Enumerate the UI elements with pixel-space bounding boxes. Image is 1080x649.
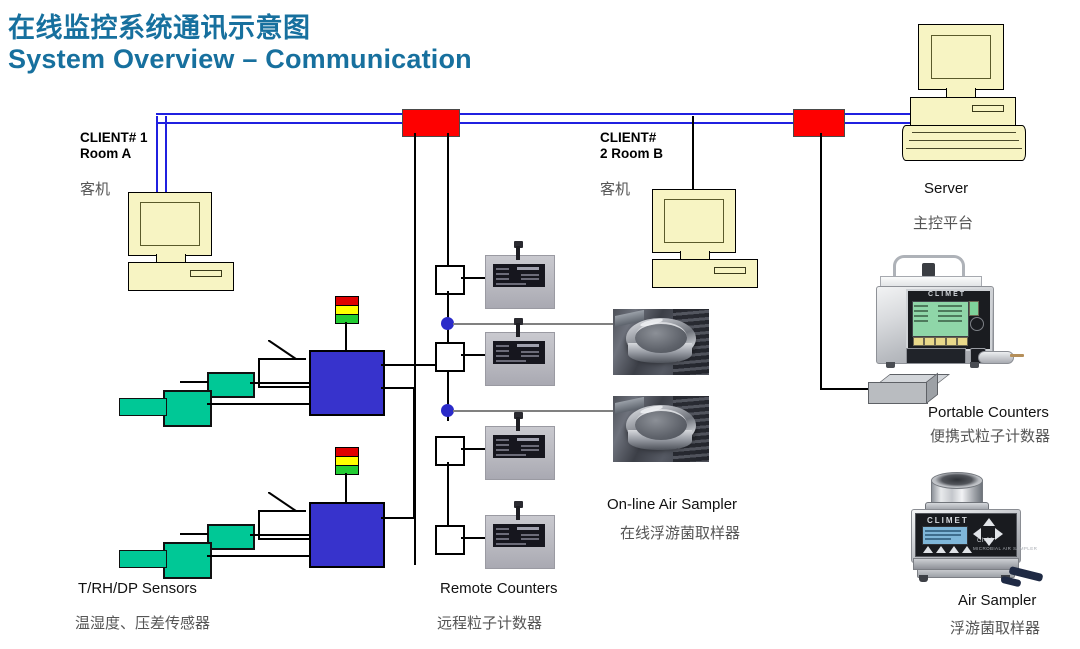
remote-counter-4-line-4 — [496, 543, 526, 545]
remote-counter-3-line-3 — [496, 449, 509, 451]
portable-counter-dock[interactable] — [868, 374, 942, 404]
air-sampler-probe-cap — [1000, 576, 1021, 588]
wire-sensor-2b-to-box — [207, 555, 310, 557]
wire-online-sampler-2 — [453, 410, 613, 412]
remote-counters-label-en: Remote Counters — [440, 580, 558, 597]
control-box-1[interactable] — [309, 350, 385, 416]
sampler-head-inner-1 — [635, 322, 687, 353]
remote-counter-2-probe — [516, 323, 520, 337]
server-screen — [931, 35, 991, 79]
portable-counter-lcd-val-1 — [938, 305, 962, 307]
client1-computer[interactable] — [128, 192, 232, 289]
online-sampler-photo-2 — [613, 396, 709, 462]
wire-sensor-2a-to-box — [250, 534, 310, 536]
portable-counter-lcd-val-3 — [938, 315, 962, 317]
remote-counter-4-probe — [516, 506, 520, 520]
status-light-red-1 — [336, 297, 358, 306]
wire-sensor-1a-stub — [180, 381, 208, 383]
portable-counter-knob[interactable] — [922, 263, 935, 277]
remote-counter-3-probe — [516, 417, 520, 431]
remote-counter-2-brand — [517, 344, 539, 347]
portable-counters-label-cn: 便携式粒子计数器 — [930, 425, 1050, 446]
status-light-stack-2 — [335, 447, 359, 475]
remote-counter-3-brand — [517, 438, 539, 441]
portable-counter-lcd-line-3 — [914, 315, 928, 317]
remote-counter-4[interactable] — [485, 515, 553, 567]
server-label-cn: 主控平台 — [913, 212, 973, 233]
remote-counter-1-brand — [517, 267, 539, 270]
portable-counter-brand-label: CLIMET — [906, 291, 988, 298]
portable-counter-softkey-5[interactable] — [957, 337, 968, 346]
wire-client2-drop — [692, 116, 694, 190]
air-sampler-label-en: Air Sampler — [958, 592, 1036, 609]
wire-hub-drop-right — [447, 133, 449, 268]
remote-counter-1-val-2 — [521, 278, 539, 280]
remote-counter-1-line-2 — [496, 273, 509, 275]
online-sampler-photo-1 — [613, 309, 709, 375]
wire-box1-out-lower — [381, 387, 415, 389]
wire-counter-3-lead — [461, 448, 487, 450]
air-sampler-key-3[interactable] — [949, 546, 959, 553]
title-english: System Overview – Communication — [8, 44, 472, 75]
title-chinese: 在线监控系统通讯示意图 — [8, 6, 311, 45]
sensors-label-en: T/RH/DP Sensors — [78, 580, 197, 597]
portable-counter-softkey-3[interactable] — [935, 337, 946, 346]
server-computer[interactable] — [908, 24, 1024, 164]
air-sampler-key-2[interactable] — [936, 546, 946, 553]
air-sampler-key-4[interactable] — [962, 546, 972, 553]
remote-counter-2-line-1 — [496, 345, 509, 347]
server-keyboard-row-2 — [909, 140, 1019, 141]
portable-counter-softkey-2[interactable] — [924, 337, 935, 346]
client2-label-cn: 客机 — [600, 178, 630, 199]
client2-label: CLIENT# 2 Room B — [600, 130, 663, 162]
relay-switch-arm-2 — [268, 492, 310, 514]
air-sampler-brand-label: CLIMET — [927, 516, 969, 525]
portable-counter-lcd-val-2 — [938, 310, 962, 312]
junction-square-2[interactable] — [435, 342, 465, 372]
wire-sensor-1a-to-box — [250, 382, 310, 384]
sensor-1b[interactable] — [163, 390, 212, 427]
client1-screen — [140, 202, 200, 246]
portable-counter-device[interactable]: CLIMET — [866, 253, 1032, 378]
network-hub-right[interactable] — [793, 109, 845, 137]
control-box-2[interactable] — [309, 502, 385, 568]
remote-counter-2[interactable] — [485, 332, 553, 384]
remote-counter-4-line-3 — [496, 538, 509, 540]
remote-counter-2-line-4 — [496, 360, 526, 362]
dock-front-face — [868, 382, 928, 404]
client1-label-line2: Room A — [80, 146, 148, 162]
wire-box2-out — [381, 517, 415, 519]
status-light-green-1 — [336, 315, 358, 323]
portable-counter-lcd-line-4 — [914, 320, 928, 322]
portable-counter-lcd-line-1 — [914, 305, 928, 307]
portable-counters-label-en: Portable Counters — [928, 404, 1049, 421]
air-sampler-key-1[interactable] — [923, 546, 933, 553]
client2-drive-slot — [714, 267, 746, 274]
remote-counter-4-val-2 — [521, 538, 539, 540]
remote-counter-1-line-1 — [496, 268, 509, 270]
air-sampler-lcd — [922, 526, 968, 545]
server-label-en: Server — [924, 180, 968, 197]
remote-counter-2-val-2 — [521, 355, 539, 357]
portable-counter-dial[interactable] — [970, 317, 984, 331]
air-sampler-device[interactable]: CLIMET CI-90 MICROBIAL AIR SAMPLER — [905, 472, 1055, 592]
air-sampler-lcd-line-2 — [925, 534, 961, 536]
remote-counter-4-val-1 — [521, 534, 539, 536]
portable-counter-enter-key[interactable] — [969, 301, 979, 316]
relay-lead-2-bottom — [258, 538, 309, 540]
wire-counter-1-lead — [461, 277, 487, 279]
remote-counter-1-line-3 — [496, 278, 509, 280]
network-bus-client1-riser — [156, 116, 167, 194]
server-keyboard-row-3 — [906, 148, 1022, 149]
wire-box1-out-lower-v — [413, 387, 415, 517]
portable-counter-softkey-4[interactable] — [946, 337, 957, 346]
sensor-2a[interactable] — [207, 524, 255, 550]
wire-sensor-1b-to-box — [207, 403, 310, 405]
server-keyboard-row-1 — [912, 132, 1016, 133]
wire-hub-right-drop — [820, 133, 822, 390]
air-sampler-inlet-top — [931, 472, 983, 489]
wire-counter-2-lead — [461, 354, 487, 356]
status-light-green-2 — [336, 466, 358, 474]
wire-online-sampler-1 — [453, 323, 613, 325]
wire-light-stack-1 — [345, 322, 347, 350]
portable-counter-isokinetic-probe[interactable] — [978, 351, 1014, 364]
status-light-yellow-1 — [336, 306, 358, 315]
online-sampler-label-cn: 在线浮游菌取样器 — [620, 522, 740, 543]
remote-counter-3-val-2 — [521, 449, 539, 451]
remote-counter-3-line-1 — [496, 439, 509, 441]
wire-light-stack-2 — [345, 473, 347, 502]
portable-counter-model-plate — [906, 348, 966, 364]
air-sampler-label-cn: 浮游菌取样器 — [950, 617, 1040, 638]
remote-counter-1-line-4 — [496, 283, 526, 285]
client1-label-line1: CLIENT# 1 — [80, 130, 148, 146]
status-light-yellow-2 — [336, 457, 358, 466]
sensors-label-cn: 温湿度、压差传感器 — [75, 612, 210, 633]
remote-counters-label-cn: 远程粒子计数器 — [437, 612, 542, 633]
wire-riser-seg-3 — [447, 462, 449, 530]
portable-counter-foot-right — [970, 362, 979, 368]
status-light-stack-1 — [335, 296, 359, 324]
relay-switch-arm-1 — [268, 340, 310, 362]
remote-counter-3-line-4 — [496, 454, 526, 456]
server-keyboard — [902, 125, 1026, 161]
remote-counter-2-line-3 — [496, 355, 509, 357]
junction-square-3[interactable] — [435, 436, 465, 466]
client2-computer[interactable] — [652, 189, 756, 286]
air-sampler-left-arrow[interactable] — [973, 528, 981, 540]
air-sampler-lcd-line-1 — [925, 530, 961, 532]
portable-counter-probe-tip — [1010, 354, 1024, 357]
air-sampler-base — [913, 558, 1019, 570]
air-sampler-lcd-line-3 — [925, 538, 951, 540]
sensor-2b[interactable] — [163, 542, 212, 579]
sampler-head-inner-2 — [635, 409, 687, 440]
portable-counter-foot-left — [886, 362, 895, 368]
client2-label-line2: 2 Room B — [600, 146, 663, 162]
server-drive-slot — [972, 105, 1004, 112]
wire-sensor-2a-stub — [180, 533, 208, 535]
remote-counter-3-val-1 — [521, 445, 539, 447]
remote-counter-2-line-2 — [496, 350, 509, 352]
remote-counter-4-brand — [517, 527, 539, 530]
sensor-1b-probe — [119, 398, 167, 416]
junction-square-4[interactable] — [435, 525, 465, 555]
remote-counter-3-line-2 — [496, 444, 509, 446]
status-light-red-2 — [336, 448, 358, 457]
portable-counter-softkey-1[interactable] — [913, 337, 924, 346]
server-base — [910, 97, 1016, 127]
remote-counter-4-line-1 — [496, 528, 509, 530]
relay-lead-1-bottom — [258, 386, 309, 388]
remote-counter-1-probe — [516, 246, 520, 260]
junction-square-1[interactable] — [435, 265, 465, 295]
client1-label: CLIENT# 1 Room A — [80, 130, 148, 162]
network-hub-center[interactable] — [402, 109, 460, 137]
client1-drive-slot — [190, 270, 222, 277]
diagram-canvas: 在线监控系统通讯示意图 System Overview – Communicat… — [0, 0, 1080, 649]
remote-counter-3[interactable] — [485, 426, 553, 478]
sensor-2b-probe — [119, 550, 167, 568]
air-sampler-down-arrow[interactable] — [983, 538, 995, 546]
client2-screen — [664, 199, 724, 243]
air-sampler-foot-left — [919, 575, 928, 582]
client2-label-line1: CLIENT# — [600, 130, 663, 146]
remote-counter-4-line-2 — [496, 533, 509, 535]
portable-counter-lcd-line-2 — [914, 310, 928, 312]
air-sampler-up-arrow[interactable] — [983, 518, 995, 526]
remote-counter-1-val-1 — [521, 274, 539, 276]
wire-counter-4-lead — [461, 537, 487, 539]
air-sampler-model-subtitle: MICROBIAL AIR SAMPLER — [973, 546, 1037, 551]
air-sampler-right-arrow[interactable] — [995, 528, 1003, 540]
client1-label-cn: 客机 — [80, 178, 110, 199]
portable-counter-lcd-val-4 — [938, 320, 962, 322]
remote-counter-1[interactable] — [485, 255, 553, 307]
online-sampler-label-en: On-line Air Sampler — [607, 496, 737, 513]
remote-counter-2-val-1 — [521, 351, 539, 353]
sensor-1a[interactable] — [207, 372, 255, 398]
